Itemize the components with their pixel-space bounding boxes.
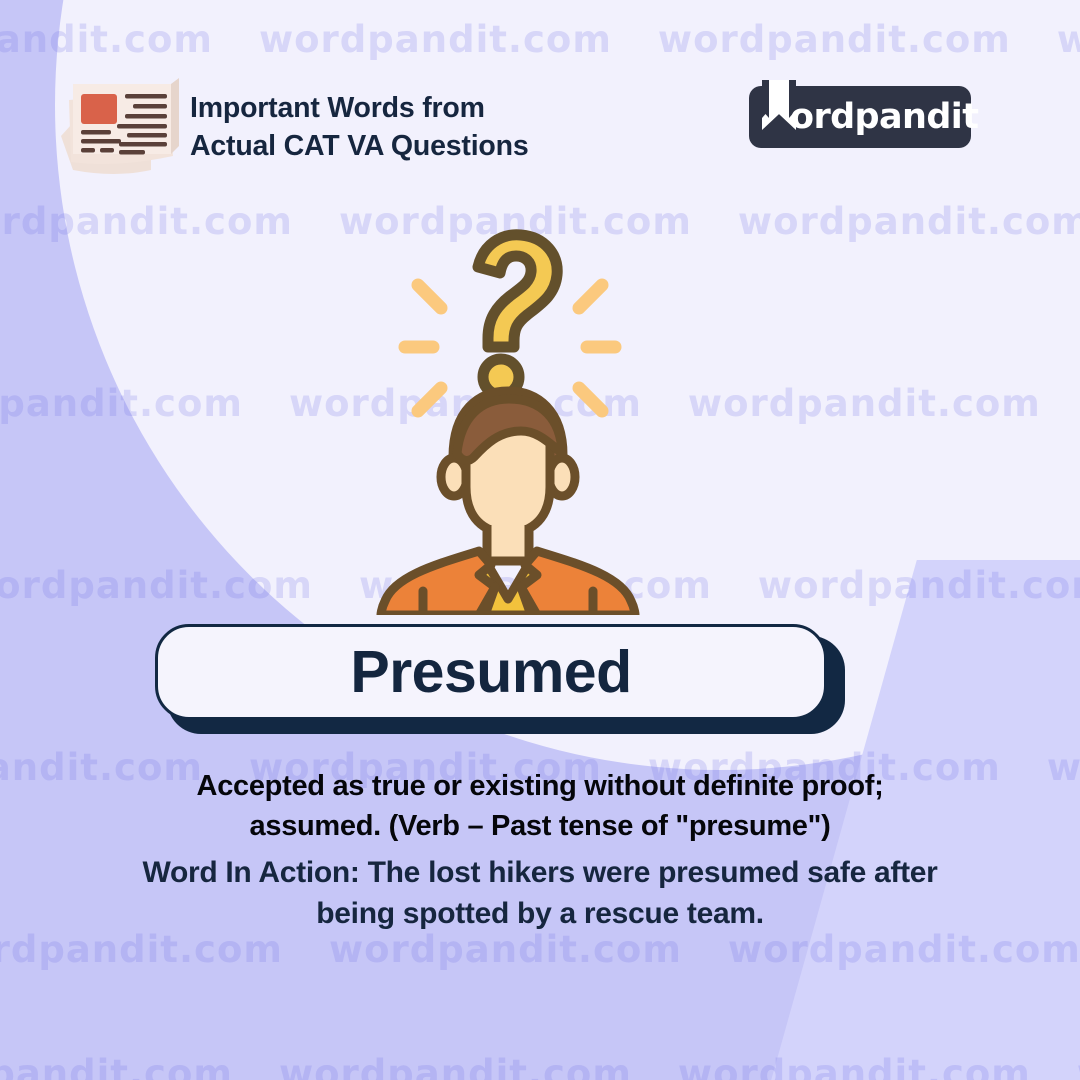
- definition-line-1: Accepted as true or existing without def…: [60, 766, 1020, 806]
- watermark-text: wordpandit.com: [329, 928, 682, 971]
- header: Important Words from Actual CAT VA Quest…: [0, 0, 1080, 190]
- watermark-text: wordpandit.com: [0, 1052, 233, 1080]
- word-card-body: Presumed: [155, 624, 827, 720]
- definition-text: Accepted as true or existing without def…: [60, 766, 1020, 846]
- wordpandit-logo[interactable]: ordpandit: [749, 86, 971, 148]
- page-title: Important Words from Actual CAT VA Quest…: [190, 90, 529, 166]
- confused-person-illustration: [375, 195, 645, 615]
- word-title: Presumed: [350, 643, 631, 702]
- person-icon: [381, 391, 635, 615]
- logo-text: ordpandit: [790, 97, 978, 137]
- page-title-line-1: Important Words from: [190, 90, 529, 128]
- definition-line-2: assumed. (Verb – Past tense of "presume"…: [60, 806, 1020, 846]
- word-card: Presumed: [155, 624, 845, 734]
- example-line-1: Word In Action: The lost hikers were pre…: [30, 852, 1050, 893]
- watermark-text: wordpandit.com: [279, 1052, 632, 1080]
- word-in-action-text: Word In Action: The lost hikers were pre…: [30, 852, 1050, 934]
- watermark-text: wordpandit.com: [0, 928, 283, 971]
- newspaper-icon: [55, 70, 180, 178]
- page-title-line-2: Actual CAT VA Questions: [190, 128, 529, 166]
- example-line-2: being spotted by a rescue team.: [30, 893, 1050, 934]
- poster-canvas: wordpandit.comwordpandit.comwordpandit.c…: [0, 0, 1080, 1080]
- question-mark-icon: [478, 235, 557, 395]
